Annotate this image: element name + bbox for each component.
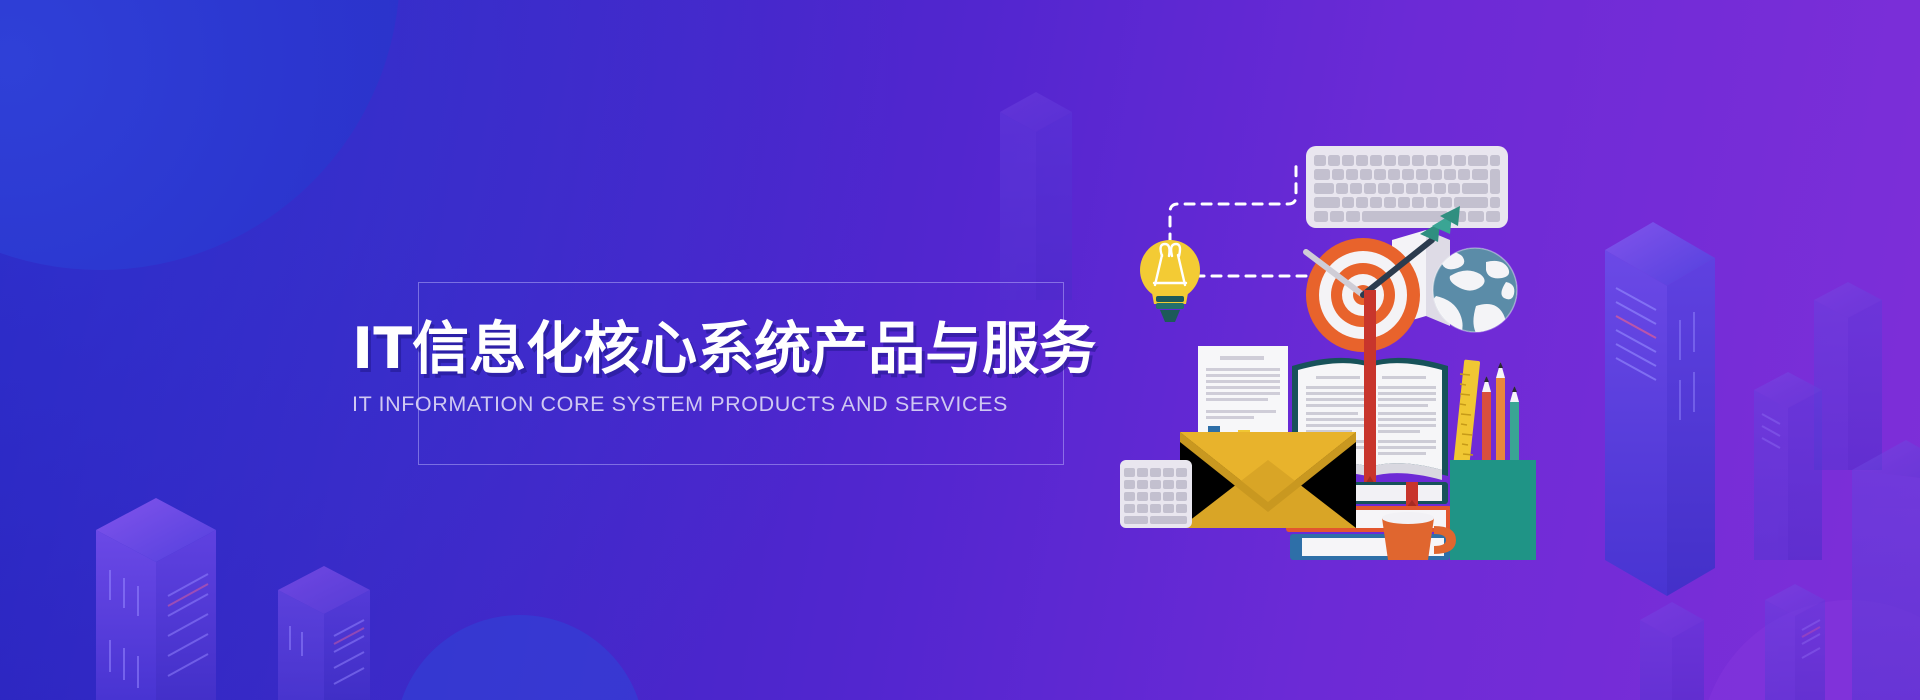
pencil-cup-icon xyxy=(1450,460,1536,560)
building-right-slim-b xyxy=(1754,372,1822,560)
lightbulb-icon xyxy=(1140,240,1200,322)
page-title: IT信息化核心系统产品与服务 xyxy=(352,320,1132,380)
building-right-slim-c xyxy=(1640,602,1704,700)
building-right-slim-d xyxy=(1765,584,1825,700)
building-right-slim-a xyxy=(1814,282,1882,470)
building-left-tall xyxy=(96,498,216,700)
building-left-short xyxy=(278,566,370,700)
building-right-tall xyxy=(1605,222,1715,596)
building-center-faint xyxy=(1000,92,1072,300)
title-block: IT信息化核心系统产品与服务 IT INFORMATION CORE SYSTE… xyxy=(352,320,1132,417)
hero-banner: IT信息化核心系统产品与服务 IT INFORMATION CORE SYSTE… xyxy=(0,0,1920,700)
keyboard-top-icon xyxy=(1306,146,1508,228)
bookmark-ribbon-icon xyxy=(1364,290,1376,486)
keyboard-bottom-icon xyxy=(1120,460,1192,528)
page-subtitle: IT INFORMATION CORE SYSTEM PRODUCTS AND … xyxy=(352,392,1132,417)
envelope-icon xyxy=(1180,432,1356,528)
building-right-wide xyxy=(1852,440,1920,700)
it-illustration xyxy=(1120,130,1550,590)
illustration-svg xyxy=(1120,130,1550,590)
